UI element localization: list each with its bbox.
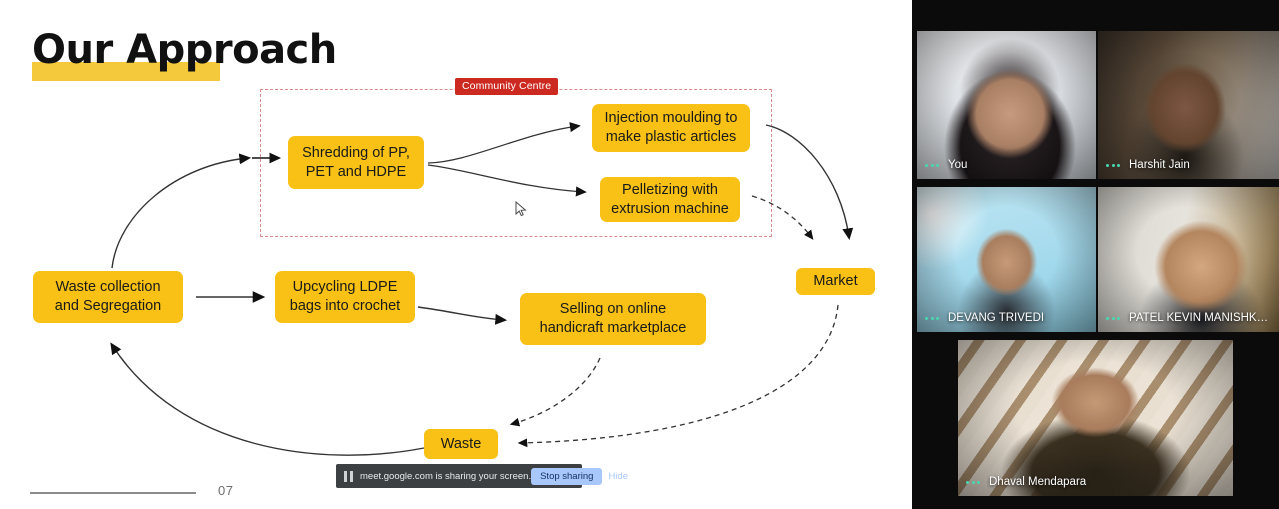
participant-tile-devang-trivedi[interactable]: DEVANG TRIVEDI	[917, 187, 1096, 332]
node-pelletizing[interactable]: Pelletizing with extrusion machine	[600, 177, 740, 222]
node-upcycling-ldpe[interactable]: Upcycling LDPE bags into crochet	[275, 271, 415, 323]
audio-activity-icon	[925, 164, 939, 167]
audio-activity-icon	[1106, 317, 1120, 320]
page-title-group: Our Approach	[32, 30, 337, 70]
participant-name: Harshit Jain	[1129, 159, 1190, 171]
participant-nameplate: Dhaval Mendapara	[958, 474, 1094, 490]
video-vignette	[958, 340, 1233, 496]
participant-name: Dhaval Mendapara	[989, 476, 1086, 488]
page-title: Our Approach	[32, 30, 337, 70]
participant-name: PATEL KEVIN MANISHK…	[1129, 312, 1268, 324]
participant-nameplate: DEVANG TRIVEDI	[917, 310, 1052, 326]
participant-nameplate: Harshit Jain	[1098, 157, 1198, 173]
node-shredding[interactable]: Shredding of PP, PET and HDPE	[288, 136, 424, 189]
participant-nameplate: You	[917, 157, 975, 173]
participant-name: You	[948, 159, 967, 171]
node-waste[interactable]: Waste	[424, 429, 498, 459]
node-injection-moulding[interactable]: Injection moulding to make plastic artic…	[592, 104, 750, 152]
community-centre-label: Community Centre	[455, 78, 558, 95]
pause-icon	[344, 471, 353, 482]
participant-name: DEVANG TRIVEDI	[948, 312, 1044, 324]
share-message: meet.google.com is sharing your screen.	[360, 471, 531, 482]
meeting-screen-share-view: Our Approach Community Centre	[0, 0, 1279, 509]
mouse-cursor-icon	[515, 201, 527, 217]
node-waste-collection[interactable]: Waste collection and Segregation	[33, 271, 183, 323]
screen-share-bar: meet.google.com is sharing your screen. …	[336, 464, 582, 488]
stop-sharing-button[interactable]: Stop sharing	[531, 468, 602, 485]
node-market[interactable]: Market	[796, 268, 875, 295]
participant-tile-patel-kevin[interactable]: PATEL KEVIN MANISHK…	[1098, 187, 1279, 332]
audio-activity-icon	[1106, 164, 1120, 167]
audio-activity-icon	[925, 317, 939, 320]
participant-video-panel: You Harshit Jain DEVANG TRIVEDI	[912, 0, 1279, 509]
shared-slide: Our Approach Community Centre	[0, 0, 912, 509]
participant-nameplate: PATEL KEVIN MANISHK…	[1098, 310, 1276, 326]
hide-bar-button[interactable]: Hide	[608, 471, 630, 482]
participant-tile-you[interactable]: You	[917, 31, 1096, 179]
page-number: 07	[218, 483, 233, 498]
participant-tile-harshit-jain[interactable]: Harshit Jain	[1098, 31, 1279, 179]
node-selling-online[interactable]: Selling on online handicraft marketplace	[520, 293, 706, 345]
audio-activity-icon	[966, 481, 980, 484]
footer-rule	[30, 492, 196, 494]
participant-tile-dhaval-mendapara[interactable]: Dhaval Mendapara	[958, 340, 1233, 496]
